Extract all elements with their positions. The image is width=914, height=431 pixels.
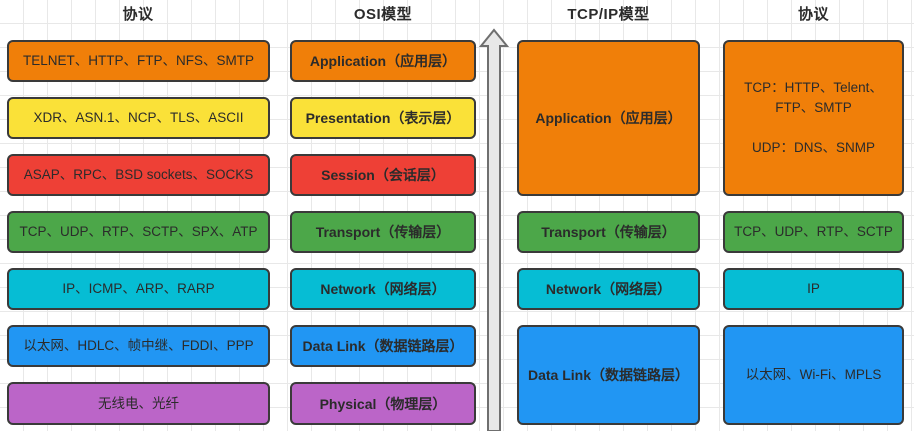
tcpip-layer-box-datalink[interactable]: Data Link（数据链路层）	[517, 325, 700, 425]
osi-layer-box-network[interactable]: Network（网络层）	[290, 268, 476, 310]
tcpip-layer-box-application[interactable]: Application（应用层）	[517, 40, 700, 196]
column-header-protocols-left: 协议	[0, 5, 276, 25]
protocol-box-left-presentation[interactable]: XDR、ASN.1、NCP、TLS、ASCII	[7, 97, 270, 139]
osi-layer-box-datalink[interactable]: Data Link（数据链路层）	[290, 325, 476, 367]
protocol-box-right-datalink[interactable]: 以太网、Wi-Fi、MPLS	[723, 325, 904, 425]
protocol-box-left-datalink[interactable]: 以太网、HDLC、帧中继、FDDI、PPP	[7, 325, 270, 367]
osi-layer-box-application[interactable]: Application（应用层）	[290, 40, 476, 82]
osi-layer-box-presentation[interactable]: Presentation（表示层）	[290, 97, 476, 139]
tcpip-layer-box-network[interactable]: Network（网络层）	[517, 268, 700, 310]
protocol-box-right-application[interactable]: TCP：HTTP、Telent、 FTP、SMTP UDP：DNS、SNMP	[723, 40, 904, 196]
protocol-box-left-physical[interactable]: 无线电、光纤	[7, 382, 270, 425]
protocol-box-left-transport[interactable]: TCP、UDP、RTP、SCTP、SPX、ATP	[7, 211, 270, 253]
column-header-osi-model: OSI模型	[290, 5, 476, 25]
osi-layer-box-physical[interactable]: Physical（物理层）	[290, 382, 476, 425]
osi-layer-box-session[interactable]: Session（会话层）	[290, 154, 476, 196]
column-header-protocols-right: 协议	[723, 5, 904, 25]
protocol-box-left-session[interactable]: ASAP、RPC、BSD sockets、SOCKS	[7, 154, 270, 196]
osi-layer-box-transport[interactable]: Transport（传输层）	[290, 211, 476, 253]
protocol-stack-diagram: 协议 OSI模型 TCP/IP模型 协议 TELNET、HTTP、FTP、NFS…	[0, 0, 914, 431]
upward-direction-arrow	[479, 28, 509, 431]
protocol-box-left-network[interactable]: IP、ICMP、ARP、RARP	[7, 268, 270, 310]
protocol-box-left-application[interactable]: TELNET、HTTP、FTP、NFS、SMTP	[7, 40, 270, 82]
tcpip-layer-box-transport[interactable]: Transport（传输层）	[517, 211, 700, 253]
protocol-box-right-transport[interactable]: TCP、UDP、RTP、SCTP	[723, 211, 904, 253]
column-header-tcpip-model: TCP/IP模型	[517, 5, 700, 25]
protocol-box-right-network[interactable]: IP	[723, 268, 904, 310]
